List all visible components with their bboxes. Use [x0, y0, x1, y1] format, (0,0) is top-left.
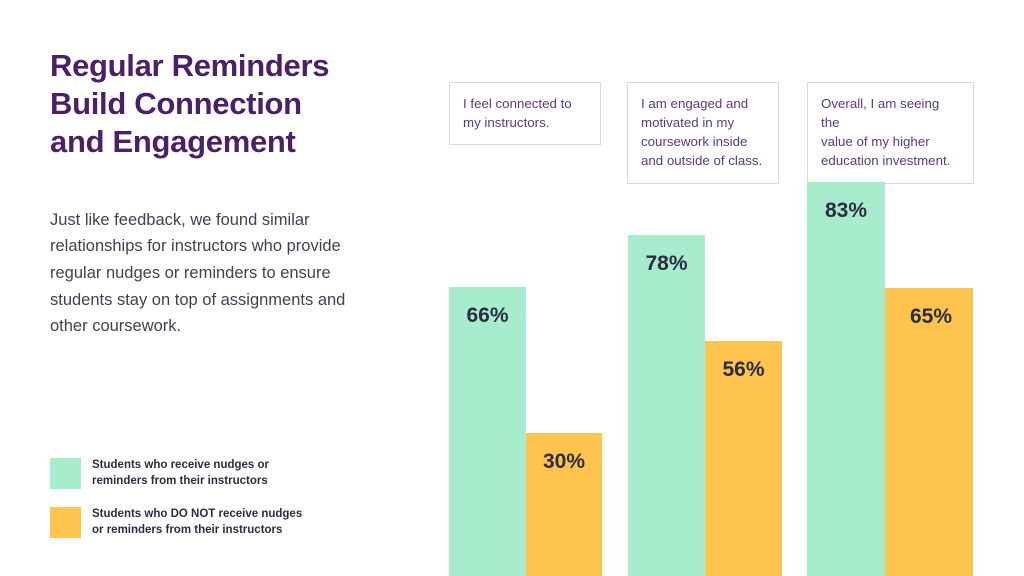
chart-legend: Students who receive nudges or reminders…	[50, 458, 380, 556]
bar-group-connected: 66% 30%	[449, 287, 602, 576]
legend-item-receive-nudges: Students who receive nudges or reminders…	[50, 458, 380, 489]
bar-engaged-nudges: 78%	[628, 235, 705, 576]
bar-group-value: 83% 65%	[807, 182, 973, 576]
bar-connected-nudges: 66%	[449, 287, 526, 576]
bar-value-engaged-nudges: 78%	[628, 252, 705, 276]
bar-engaged-no-nudges: 56%	[705, 341, 782, 576]
bar-value-value-no-nudges: 65%	[885, 305, 973, 329]
bar-value-nudges: 83%	[807, 182, 885, 576]
intro-paragraph: Just like feedback, we found similar rel…	[50, 207, 365, 341]
legend-item-no-nudges: Students who DO NOT receive nudges or re…	[50, 507, 380, 538]
left-text-panel: Regular Reminders Build Connection and E…	[0, 0, 430, 576]
question-box-value: Overall, I am seeing the value of my hig…	[807, 82, 974, 184]
bar-value-connected-no-nudges: 30%	[526, 450, 602, 474]
page-title-line-3: and Engagement	[50, 123, 390, 161]
page-title-line-2: Build Connection	[50, 85, 390, 123]
legend-label-no-nudges: Students who DO NOT receive nudges or re…	[92, 507, 302, 537]
legend-swatch-green	[50, 458, 81, 489]
bar-value-connected-nudges: 66%	[449, 304, 526, 328]
bar-chart: I feel connected to my instructors. I am…	[430, 0, 1024, 576]
bar-connected-no-nudges: 30%	[526, 433, 602, 576]
page-title-line-1: Regular Reminders	[50, 47, 390, 85]
legend-swatch-orange	[50, 507, 81, 538]
legend-label-receive-nudges: Students who receive nudges or reminders…	[92, 458, 269, 488]
bar-value-no-nudges: 65%	[885, 288, 973, 576]
page-title: Regular Reminders Build Connection and E…	[50, 47, 390, 160]
question-box-connected: I feel connected to my instructors.	[449, 82, 601, 145]
question-box-engaged: I am engaged and motivated in my coursew…	[627, 82, 779, 184]
bar-value-engaged-no-nudges: 56%	[705, 358, 782, 382]
bar-value-value-nudges: 83%	[807, 199, 885, 223]
bar-group-engaged: 78% 56%	[628, 235, 782, 576]
